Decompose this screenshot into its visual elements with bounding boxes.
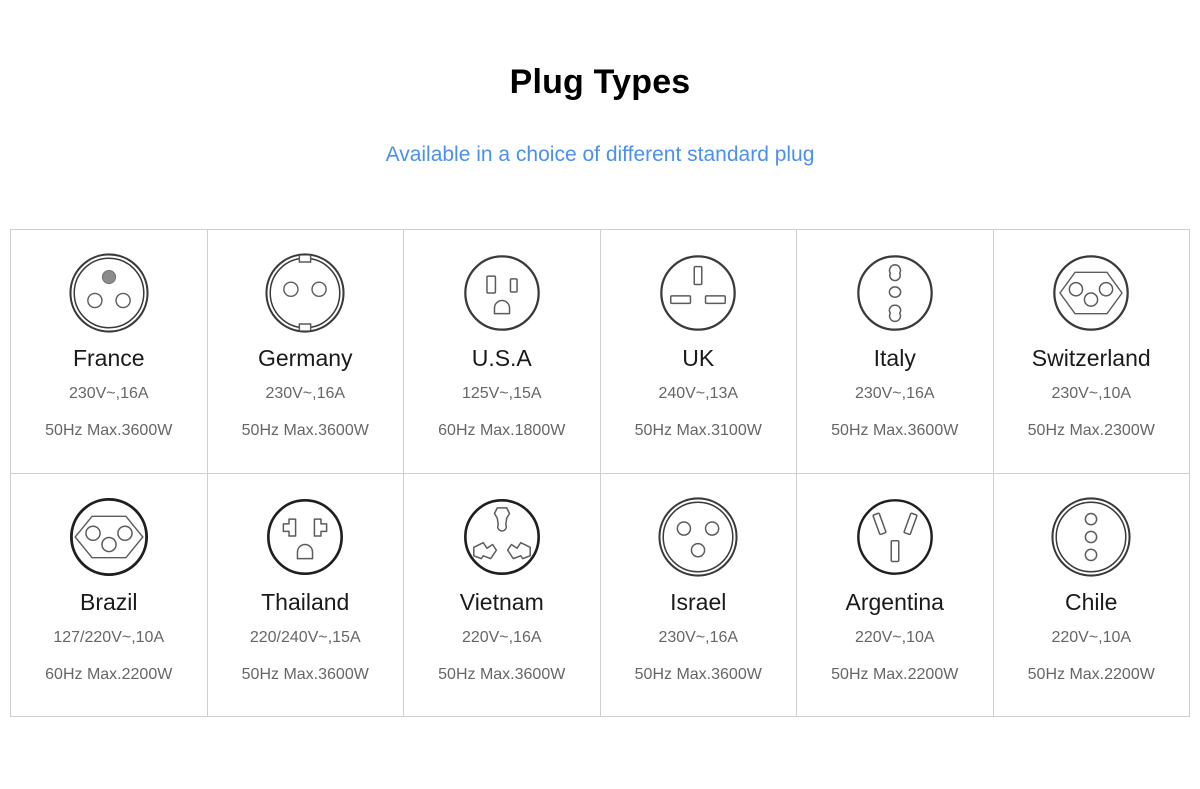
- plug-cell-usa[interactable]: U.S.A 125V~,15A 60Hz Max.1800W: [404, 230, 601, 474]
- plug-socket-uk-icon: [651, 246, 745, 340]
- plug-cell-france[interactable]: France 230V~,16A 50Hz Max.3600W: [11, 230, 208, 474]
- plug-types-page: Plug Types Available in a choice of diff…: [0, 0, 1200, 789]
- plug-voltage: 230V~,16A: [69, 383, 149, 405]
- plug-name: U.S.A: [472, 344, 532, 372]
- plug-cell-israel[interactable]: Israel 230V~,16A 50Hz Max.3600W: [601, 474, 798, 718]
- plug-power: 50Hz Max.3100W: [635, 420, 762, 442]
- plug-name: Israel: [670, 588, 726, 616]
- plug-name: Vietnam: [460, 588, 544, 616]
- plug-socket-brazil-icon: [62, 490, 156, 584]
- plug-voltage: 230V~,10A: [1051, 383, 1131, 405]
- plug-name: Switzerland: [1032, 344, 1151, 372]
- plug-name: Germany: [258, 344, 353, 372]
- plug-name: Thailand: [261, 588, 349, 616]
- plug-power: 50Hz Max.3600W: [242, 664, 369, 686]
- plug-socket-italy-icon: [848, 246, 942, 340]
- plug-socket-switzerland-icon: [1044, 246, 1138, 340]
- plug-types-grid: France 230V~,16A 50Hz Max.3600W Germany …: [10, 229, 1190, 717]
- plug-voltage: 220V~,16A: [462, 627, 542, 649]
- plug-socket-chile-icon: [1044, 490, 1138, 584]
- plug-name: Argentina: [846, 588, 944, 616]
- plug-power: 50Hz Max.3600W: [635, 664, 762, 686]
- plug-cell-brazil[interactable]: Brazil 127/220V~,10A 60Hz Max.2200W: [11, 474, 208, 718]
- plug-voltage: 127/220V~,10A: [53, 627, 164, 649]
- plug-cell-switzerland[interactable]: Switzerland 230V~,10A 50Hz Max.2300W: [994, 230, 1191, 474]
- plug-voltage: 220/240V~,15A: [250, 627, 361, 649]
- plug-name: UK: [682, 344, 714, 372]
- plug-cell-italy[interactable]: Italy 230V~,16A 50Hz Max.3600W: [797, 230, 994, 474]
- page-title: Plug Types: [0, 62, 1200, 102]
- plug-socket-usa-icon: [455, 246, 549, 340]
- plug-socket-argentina-icon: [848, 490, 942, 584]
- plug-voltage: 230V~,16A: [658, 627, 738, 649]
- plug-voltage: 230V~,16A: [855, 383, 935, 405]
- plug-power: 50Hz Max.3600W: [45, 420, 172, 442]
- plug-power: 50Hz Max.3600W: [242, 420, 369, 442]
- plug-voltage: 220V~,10A: [855, 627, 935, 649]
- plug-socket-germany-icon: [258, 246, 352, 340]
- plug-name: Chile: [1065, 588, 1117, 616]
- plug-cell-argentina[interactable]: Argentina 220V~,10A 50Hz Max.2200W: [797, 474, 994, 718]
- plug-power: 50Hz Max.2200W: [1028, 664, 1155, 686]
- plug-power: 50Hz Max.2200W: [831, 664, 958, 686]
- plug-power: 60Hz Max.2200W: [45, 664, 172, 686]
- plug-power: 50Hz Max.2300W: [1028, 420, 1155, 442]
- plug-power: 60Hz Max.1800W: [438, 420, 565, 442]
- plug-cell-thailand[interactable]: Thailand 220/240V~,15A 50Hz Max.3600W: [208, 474, 405, 718]
- plug-voltage: 240V~,13A: [658, 383, 738, 405]
- plug-name: France: [73, 344, 145, 372]
- plug-name: Brazil: [80, 588, 138, 616]
- plug-cell-germany[interactable]: Germany 230V~,16A 50Hz Max.3600W: [208, 230, 405, 474]
- page-header: Plug Types Available in a choice of diff…: [0, 0, 1200, 168]
- plug-socket-vietnam-icon: [455, 490, 549, 584]
- plug-cell-vietnam[interactable]: Vietnam 220V~,16A 50Hz Max.3600W: [404, 474, 601, 718]
- plug-voltage: 125V~,15A: [462, 383, 542, 405]
- plug-socket-thailand-icon: [258, 490, 352, 584]
- plug-power: 50Hz Max.3600W: [438, 664, 565, 686]
- plug-socket-israel-icon: [651, 490, 745, 584]
- page-subtitle: Available in a choice of different stand…: [0, 102, 1200, 168]
- plug-cell-uk[interactable]: UK 240V~,13A 50Hz Max.3100W: [601, 230, 798, 474]
- plug-voltage: 220V~,10A: [1051, 627, 1131, 649]
- plug-voltage: 230V~,16A: [265, 383, 345, 405]
- plug-socket-france-icon: [62, 246, 156, 340]
- plug-cell-chile[interactable]: Chile 220V~,10A 50Hz Max.2200W: [994, 474, 1191, 718]
- plug-power: 50Hz Max.3600W: [831, 420, 958, 442]
- plug-name: Italy: [874, 344, 916, 372]
